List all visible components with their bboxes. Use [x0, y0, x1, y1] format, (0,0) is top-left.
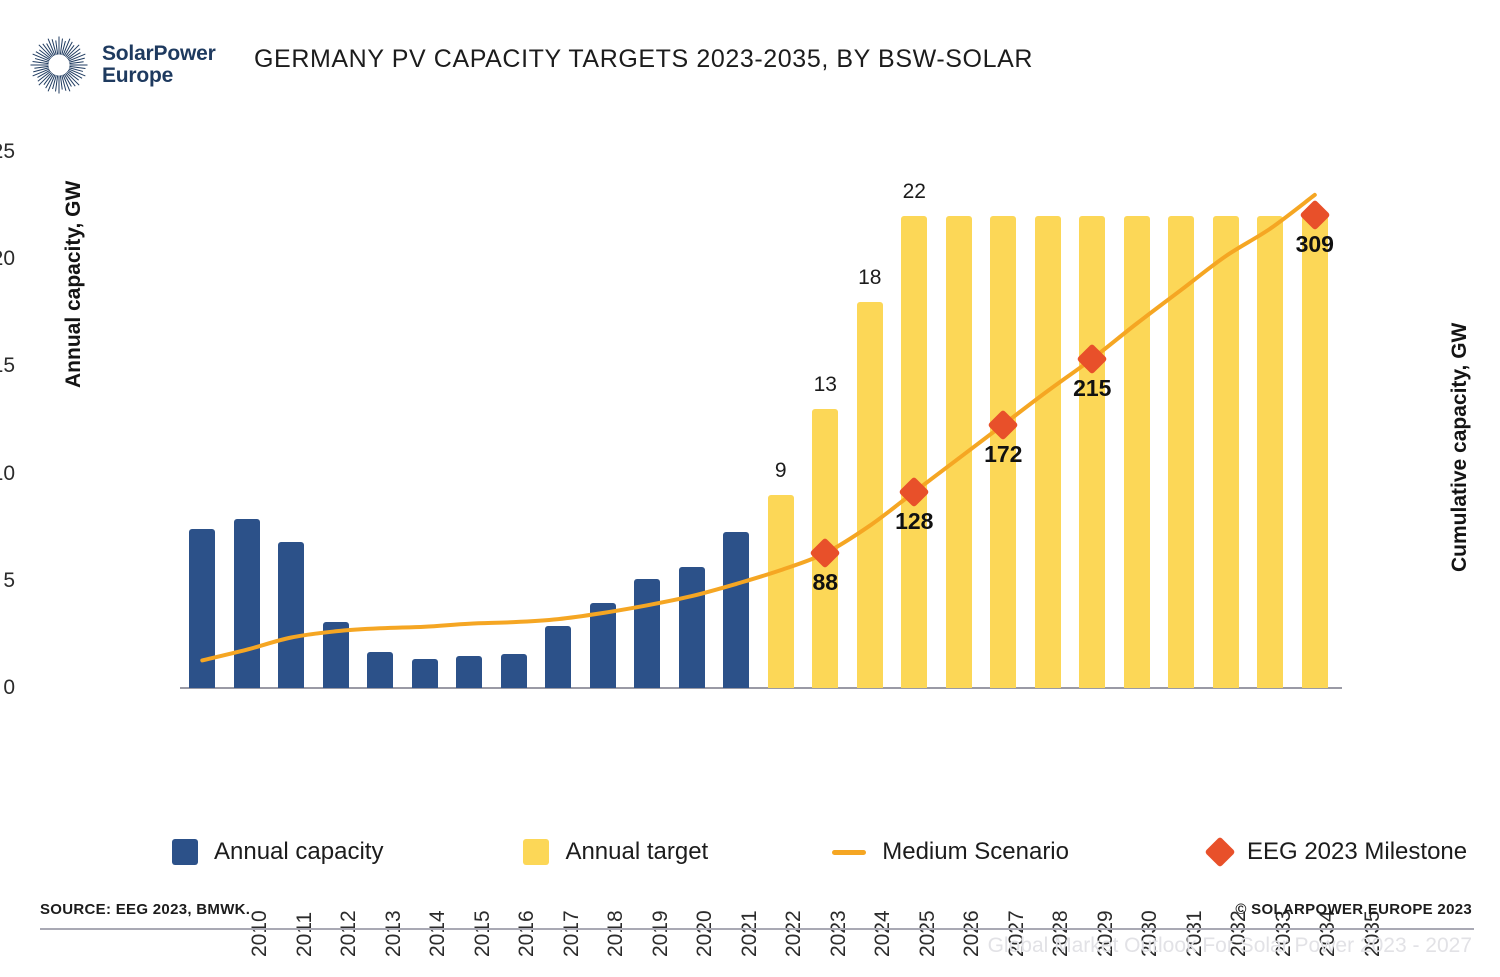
x-axis-tick-2013: 2013 [382, 887, 406, 957]
legend-square-icon [172, 839, 198, 865]
x-axis-tick-2016: 2016 [515, 887, 539, 957]
x-axis-tick-2018: 2018 [604, 887, 628, 957]
x-axis-tick-2024: 2024 [871, 887, 895, 957]
brand-logo: SolarPower Europe [28, 34, 216, 96]
milestone-value-label-2030: 215 [1073, 375, 1111, 402]
x-axis-tick-2011: 2011 [293, 887, 317, 957]
scenario-line-layer [180, 152, 1337, 688]
x-axis-tick-2023: 2023 [827, 887, 851, 957]
x-axis-tick-2012: 2012 [337, 887, 361, 957]
x-axis-tick-2019: 2019 [649, 887, 673, 957]
report-name: Global Market Outlook For Solar Power 20… [988, 934, 1472, 958]
y-axis-left-tick: 15 [0, 354, 15, 378]
y-axis-left-label: Annual capacity, GW [62, 181, 86, 388]
x-axis-tick-2017: 2017 [560, 887, 584, 957]
y-axis-left-tick: 5 [0, 569, 15, 593]
legend-item-annual-capacity[interactable]: Annual capacity [172, 838, 383, 866]
copyright-note: © SOLARPOWER EUROPE 2023 [1235, 901, 1472, 918]
sunburst-icon [28, 34, 90, 96]
legend-item-medium-scenario[interactable]: Medium Scenario [832, 838, 1069, 866]
source-note: SOURCE: EEG 2023, BMWK. [40, 901, 250, 918]
brand-line-1: SolarPower [102, 43, 216, 65]
footer-divider [40, 928, 1474, 930]
x-axis-tick-2025: 2025 [916, 887, 940, 957]
legend-line-icon [832, 850, 866, 855]
brand-wordmark: SolarPower Europe [102, 43, 216, 87]
milestone-value-label-2024: 88 [812, 569, 838, 596]
legend-item-eeg-2023-milestone[interactable]: EEG 2023 Milestone [1209, 838, 1467, 866]
y-axis-right-label: Cumulative capacity, GW [1448, 323, 1472, 572]
x-axis-tick-2020: 2020 [693, 887, 717, 957]
plot-area: Annual capacity, GW Cumulative capacity,… [180, 152, 1337, 688]
x-axis-tick-2026: 2026 [960, 887, 984, 957]
legend-item-annual-target[interactable]: Annual target [523, 838, 708, 866]
chart-header: SolarPower Europe GERMANY PV CAPACITY TA… [0, 0, 1500, 120]
medium-scenario-line [202, 195, 1315, 661]
page-title: GERMANY PV CAPACITY TARGETS 2023-2035, B… [254, 45, 1033, 74]
milestone-value-label-2026: 128 [895, 508, 933, 535]
legend-label: Medium Scenario [882, 838, 1069, 866]
milestone-value-label-2028: 172 [984, 441, 1022, 468]
brand-line-2: Europe [102, 65, 216, 87]
x-axis-tick-2021: 2021 [738, 887, 762, 957]
legend-label: Annual target [565, 838, 708, 866]
milestone-value-label-2035: 309 [1296, 231, 1334, 258]
legend-square-icon [523, 839, 549, 865]
legend-diamond-icon [1204, 836, 1235, 867]
y-axis-left-tick: 10 [0, 462, 15, 486]
y-axis-left-tick: 20 [0, 247, 15, 271]
x-axis-tick-2022: 2022 [782, 887, 806, 957]
chart-legend: Annual capacityAnnual targetMedium Scena… [0, 838, 1500, 866]
legend-label: Annual capacity [214, 838, 383, 866]
y-axis-left-tick: 25 [0, 140, 15, 164]
legend-label: EEG 2023 Milestone [1247, 838, 1467, 866]
x-axis-tick-2010: 2010 [248, 887, 272, 957]
x-axis-tick-2015: 2015 [471, 887, 495, 957]
x-axis-tick-2014: 2014 [426, 887, 450, 957]
y-axis-left-tick: 0 [0, 676, 15, 700]
